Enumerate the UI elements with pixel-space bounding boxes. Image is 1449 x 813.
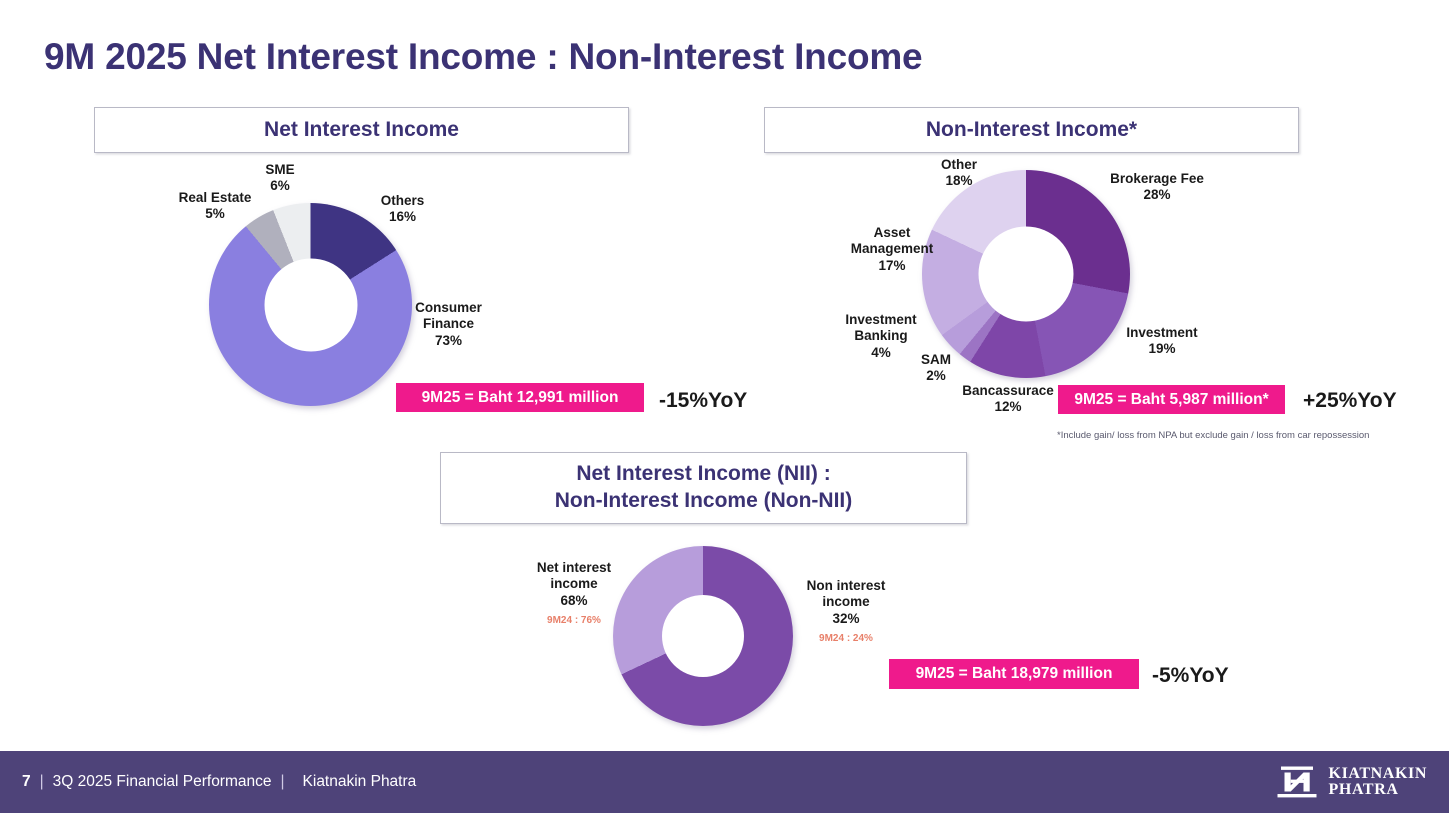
slice-label-asset-management: Asset Management 17% (836, 225, 948, 274)
brand-logo-text: KIATNAKIN PHATRA (1329, 766, 1427, 799)
callout-amount-label: 9M25 = Baht 12,991 million (422, 389, 619, 407)
slice-label-consumer-finance: Consumer Finance 73% (396, 300, 501, 349)
slice-sublabel-net-interest-income-prior: 9M24 : 76% (518, 615, 630, 627)
callout-net-interest-income-amount: 9M25 = Baht 12,991 million (396, 383, 644, 412)
section-header-line2: Non-Interest Income (Non-NII) (555, 489, 853, 512)
donut-hole (264, 258, 357, 351)
section-header-label: Net Interest Income (264, 117, 459, 144)
slice-label-real-estate: Real Estate 5% (160, 190, 270, 223)
callout-total-income-amount: 9M25 = Baht 18,979 million (889, 659, 1139, 689)
brand-logo: KIATNAKIN PHATRA (1275, 764, 1427, 800)
donut-chart-nii-vs-non-nii (613, 546, 793, 726)
section-header-label: Net Interest Income (NII) : Non-Interest… (555, 461, 853, 515)
slice-label-investment: Investment 19% (1112, 325, 1212, 358)
donut-hole (979, 227, 1074, 322)
page-title: 9M 2025 Net Interest Income : Non-Intere… (44, 36, 922, 78)
slice-label-bancassurace: Bancassurace 12% (952, 383, 1064, 416)
callout-non-interest-income-amount: 9M25 = Baht 5,987 million* (1058, 385, 1285, 414)
kiatnakin-phatra-logo-icon (1275, 764, 1319, 800)
section-header-label: Non-Interest Income* (926, 117, 1137, 144)
section-header-non-interest-income: Non-Interest Income* (764, 107, 1299, 153)
slice-label-brokerage-fee: Brokerage Fee 28% (1092, 171, 1222, 204)
deck-title: 3Q 2025 Financial Performance (53, 773, 272, 791)
footnote-text: *Include gain/ loss from NPA but exclude… (1057, 430, 1369, 441)
brand-logo-line2: PHATRA (1329, 782, 1427, 798)
callout-amount-label: 9M25 = Baht 18,979 million (916, 665, 1113, 683)
yoy-change-net-interest-income: -15%YoY (659, 389, 747, 413)
section-header-line1: Net Interest Income (NII) : (576, 462, 830, 485)
footer-breadcrumb: 7 | 3Q 2025 Financial Performance | Kiat… (22, 773, 416, 791)
yoy-change-non-interest-income: +25%YoY (1303, 389, 1397, 413)
slice-label-other: Other 18% (920, 157, 998, 190)
slice-label-net-interest-income: Net interest income 68% (518, 560, 630, 609)
slice-label-others: Others 16% (355, 193, 450, 226)
slice-sublabel-non-interest-income-prior: 9M24 : 24% (790, 633, 902, 645)
separator-icon: | (281, 773, 285, 791)
section-header-net-interest-income: Net Interest Income (94, 107, 629, 153)
slice-label-non-interest-income: Non interest income 32% (790, 578, 902, 627)
slice-label-sam: SAM 2% (908, 352, 964, 385)
separator-icon: | (40, 773, 44, 791)
brand-logo-line1: KIATNAKIN (1329, 766, 1427, 782)
section-header-nii-ratio: Net Interest Income (NII) : Non-Interest… (440, 452, 967, 524)
page-number: 7 (22, 773, 31, 791)
footer-bar: 7 | 3Q 2025 Financial Performance | Kiat… (0, 751, 1449, 813)
slide-canvas: 9M 2025 Net Interest Income : Non-Intere… (0, 0, 1449, 813)
donut-chart-net-interest-income (209, 203, 412, 406)
yoy-change-total-income: -5%YoY (1152, 664, 1229, 688)
donut-hole (662, 595, 744, 677)
callout-amount-label: 9M25 = Baht 5,987 million* (1074, 391, 1268, 409)
organization-name: Kiatnakin Phatra (303, 773, 417, 791)
